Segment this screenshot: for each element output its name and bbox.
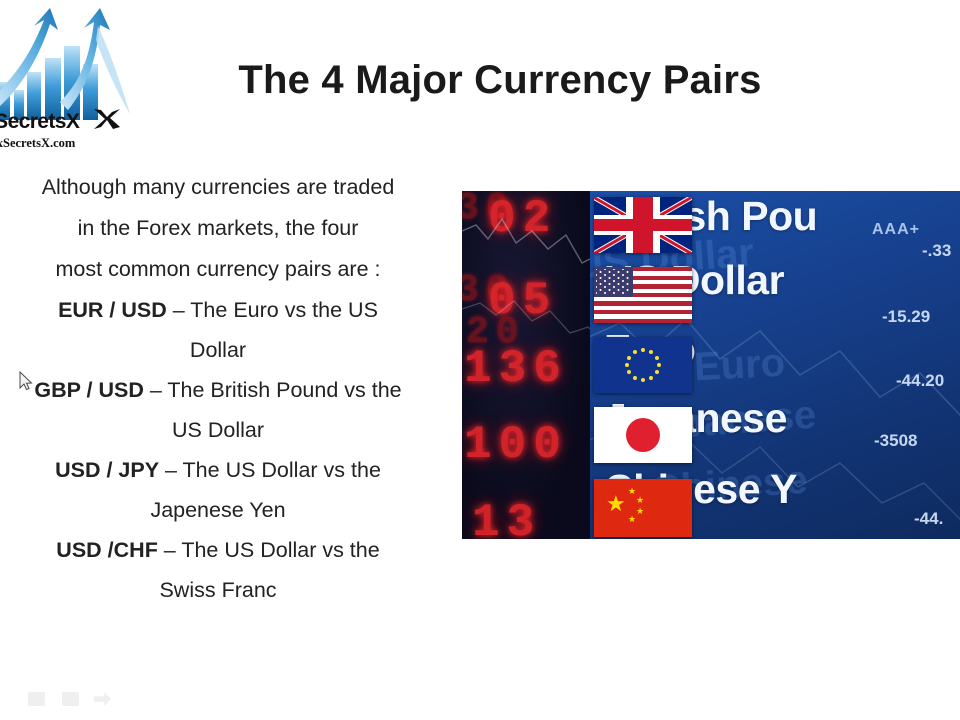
japan-flag-icon (594, 407, 692, 463)
pair-description: The Euro vs the US (190, 298, 378, 322)
led-ticker-panel: 30 02 30 05 20 136 100 13 (462, 191, 590, 539)
forexsecretsx-logo: exSecretsX ForexSecretsX.com (0, 6, 138, 156)
eu-flag-icon (594, 337, 692, 393)
pair-dash: – (167, 298, 191, 322)
pair-description-cont: US Dollar (0, 413, 448, 448)
logo-chart-arrow-graphic (0, 6, 138, 122)
us-flag-icon (594, 267, 692, 323)
china-flag-icon: ★ ★ ★ ★ ★ (594, 479, 692, 537)
pair-dash: – (144, 378, 168, 402)
pair-symbol-gbp-usd: GBP / USD (34, 378, 144, 402)
board-credit-rating: AAA+ (872, 221, 920, 239)
board-number: -44. (914, 509, 943, 529)
slide-body-text: Although many currencies are traded in t… (0, 170, 448, 613)
pair-description-cont: Japenese Yen (0, 493, 448, 528)
pair-description-cont: Swiss Franc (0, 573, 448, 608)
pair-description: The US Dollar vs the (183, 458, 381, 482)
pair-symbol-usd-chf: USD /CHF (56, 538, 158, 562)
currency-pair-item: USD /CHF – The US Dollar vs the (0, 533, 448, 568)
pair-description: The British Pound vs the (167, 378, 401, 402)
board-number: -3508 (874, 431, 917, 451)
video-player-controls[interactable] (28, 690, 158, 712)
currency-board-photo: 30 02 30 05 20 136 100 13 US Dollar Euro… (462, 191, 960, 539)
currency-pair-item: EUR / USD – The Euro vs the US (0, 293, 448, 328)
intro-line-1: Although many currencies are traded (0, 170, 448, 205)
flags-column: ★ ★ ★ ★ ★ (588, 191, 700, 539)
page-title: The 4 Major Currency Pairs (150, 58, 850, 103)
currency-pair-item: USD / JPY – The US Dollar vs the (0, 453, 448, 488)
pair-symbol-usd-jpy: USD / JPY (55, 458, 159, 482)
logo-x-mark-icon (92, 106, 122, 132)
pair-description-cont: Dollar (0, 333, 448, 368)
pair-description: The US Dollar vs the (181, 538, 379, 562)
pair-symbol-eur-usd: EUR / USD (58, 298, 167, 322)
currency-pair-item: GBP / USD – The British Pound vs the (0, 373, 448, 408)
logo-url-text: ForexSecretsX.com (0, 136, 138, 151)
board-number: -15.29 (882, 307, 930, 327)
pair-dash: – (158, 538, 182, 562)
player-next-icon[interactable] (94, 692, 111, 706)
pair-dash: – (159, 458, 183, 482)
board-number: -.33 (922, 241, 951, 261)
intro-line-2: in the Forex markets, the four (0, 211, 448, 246)
uk-flag-icon (594, 197, 692, 253)
intro-line-3: most common currency pairs are : (0, 252, 448, 287)
sparkline-overlay-icon (462, 191, 590, 391)
player-control-icon-a[interactable] (28, 692, 45, 706)
led-digits: 13 (472, 497, 590, 539)
board-number: -44.20 (896, 371, 944, 391)
player-control-icon-b[interactable] (62, 692, 79, 706)
presentation-slide: exSecretsX ForexSecretsX.com The 4 Major… (0, 0, 960, 720)
led-digits: 100 (464, 419, 590, 471)
